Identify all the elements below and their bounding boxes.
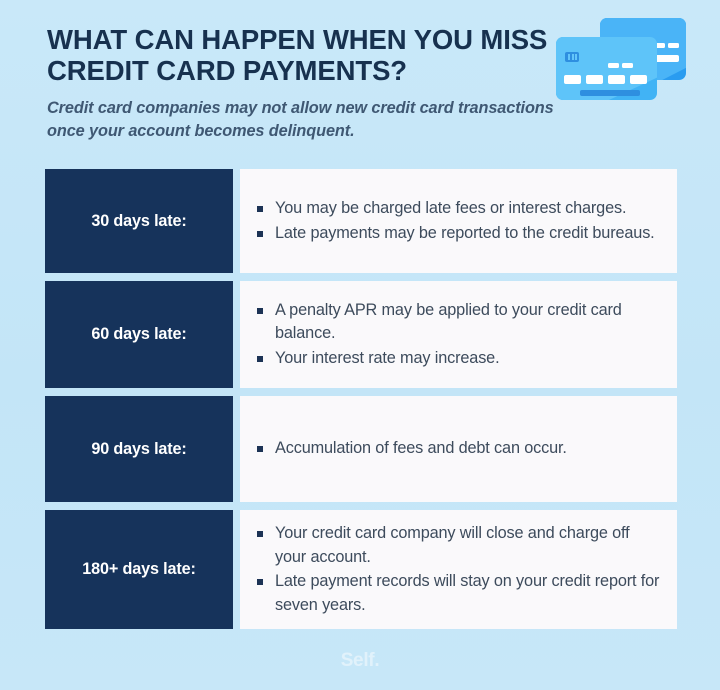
timeline-row-content: A penalty APR may be applied to your cre… — [240, 281, 677, 388]
bullet-list: Your credit card company will close and … — [254, 522, 661, 617]
list-item: Late payments may be reported to the cre… — [254, 222, 661, 246]
timeline-row: 30 days late: You may be charged late fe… — [45, 169, 677, 273]
infographic-canvas: WHAT CAN HAPPEN WHEN YOU MISS CREDIT CAR… — [0, 0, 720, 690]
timeline-row-content: Your credit card company will close and … — [240, 510, 677, 629]
credit-card-front-icon — [556, 37, 657, 100]
bullet-list: A penalty APR may be applied to your cre… — [254, 299, 661, 371]
card-chip-icon — [565, 52, 579, 62]
list-item: Your interest rate may increase. — [254, 347, 661, 371]
bullet-list: You may be charged late fees or interest… — [254, 197, 661, 245]
list-item: Accumulation of fees and debt can occur. — [254, 437, 661, 461]
timeline-row-content: You may be charged late fees or interest… — [240, 169, 677, 273]
card-front-stripe — [608, 63, 619, 68]
timeline-row: 60 days late: A penalty APR may be appli… — [45, 281, 677, 388]
page-subtitle: Credit card companies may not allow new … — [47, 97, 567, 142]
list-item: A penalty APR may be applied to your cre… — [254, 299, 661, 346]
card-front-stripe — [622, 63, 633, 68]
timeline-row-label: 180+ days late: — [45, 510, 233, 629]
page-title: WHAT CAN HAPPEN WHEN YOU MISS CREDIT CAR… — [47, 24, 567, 86]
card-number-block — [564, 75, 581, 84]
list-item: Your credit card company will close and … — [254, 522, 661, 569]
timeline-row-label-text: 180+ days late: — [82, 560, 195, 579]
brand-logo: Self. — [0, 650, 720, 672]
timeline-row-label: 60 days late: — [45, 281, 233, 388]
card-back-stripe — [654, 55, 679, 62]
timeline-row: 180+ days late: Your credit card company… — [45, 510, 677, 629]
timeline-row-label-text: 60 days late: — [91, 325, 186, 344]
list-item: You may be charged late fees or interest… — [254, 197, 661, 221]
timeline-row-label: 30 days late: — [45, 169, 233, 273]
card-number-block — [608, 75, 625, 84]
list-item: Late payment records will stay on your c… — [254, 570, 661, 617]
timeline-row-label: 90 days late: — [45, 396, 233, 502]
timeline-row-label-text: 90 days late: — [91, 440, 186, 459]
delinquency-timeline: 30 days late: You may be charged late fe… — [45, 169, 677, 629]
timeline-row: 90 days late: Accumulation of fees and d… — [45, 396, 677, 502]
card-back-stripe — [668, 43, 679, 48]
card-front-bar — [580, 90, 640, 96]
timeline-row-content: Accumulation of fees and debt can occur. — [240, 396, 677, 502]
timeline-row-label-text: 30 days late: — [91, 212, 186, 231]
card-number-block — [630, 75, 647, 84]
card-number-block — [586, 75, 603, 84]
credit-cards-icon — [556, 18, 686, 100]
bullet-list: Accumulation of fees and debt can occur. — [254, 437, 661, 461]
header-block: WHAT CAN HAPPEN WHEN YOU MISS CREDIT CAR… — [47, 24, 567, 142]
